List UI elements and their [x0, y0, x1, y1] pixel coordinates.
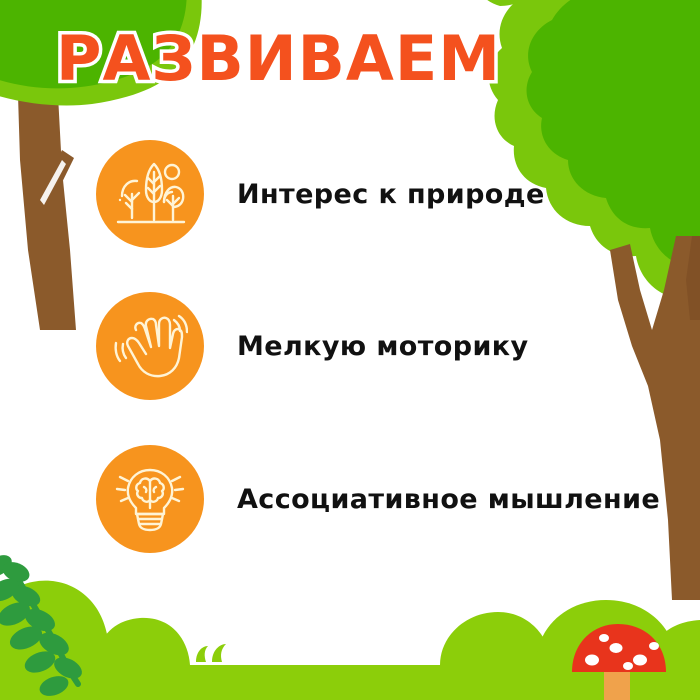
feature-icon-badge — [96, 140, 204, 248]
feature-icon-badge — [96, 445, 204, 553]
feature-label: Мелкую моторику — [237, 331, 529, 362]
feature-item-fine-motor: Мелкую моторику — [96, 292, 529, 400]
feature-label: Ассоциативное мышление — [237, 484, 660, 515]
feature-label: Интерес к природе — [237, 179, 545, 210]
poster-canvas: РАЗВИВАЕМ — [0, 0, 700, 700]
trees-sun-icon — [112, 156, 188, 232]
open-hand-icon — [112, 308, 188, 384]
feature-icon-badge — [96, 292, 204, 400]
lightbulb-brain-icon — [112, 461, 188, 537]
page-title: РАЗВИВАЕМ — [56, 22, 501, 95]
feature-item-associative-thinking: Ассоциативное мышление — [96, 445, 660, 553]
feature-item-nature-interest: Интерес к природе — [96, 140, 545, 248]
feature-list: Интерес к природе Ме — [0, 0, 700, 700]
